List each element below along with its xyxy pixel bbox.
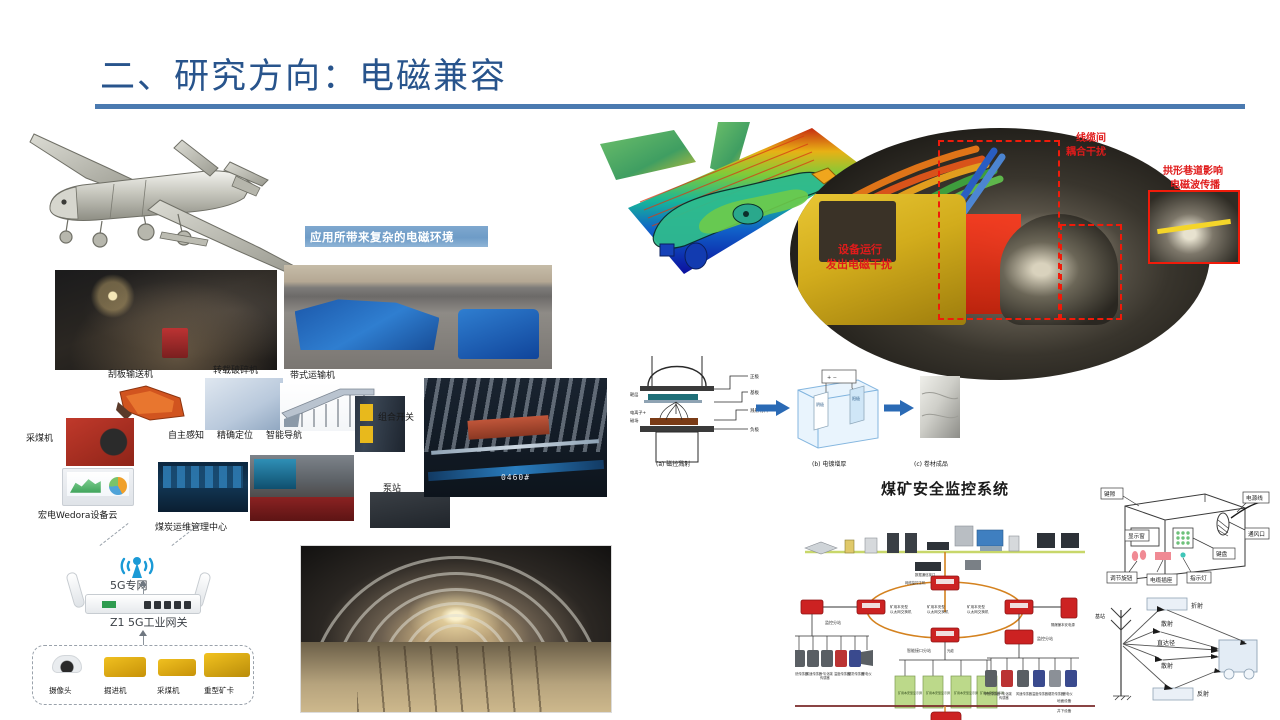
label-roadheader: 掘进机 <box>104 687 127 696</box>
svg-text:正极: 正极 <box>750 373 759 380</box>
svg-text:以太网交换机: 以太网交换机 <box>890 609 912 614</box>
annotation-equipment-line1: 设备运行 <box>838 244 882 257</box>
photo-mine-tunnel <box>300 545 612 713</box>
svg-text:调节旋钮: 调节旋钮 <box>1110 574 1133 582</box>
image-transfer-crusher <box>205 378 283 430</box>
label-scraper-conveyor: 刮板输送机 <box>108 370 153 380</box>
svg-text:矿用本安型: 矿用本安型 <box>967 604 985 609</box>
svg-text:电缆插座: 电缆插座 <box>1150 576 1173 584</box>
svg-text:矿用本安型显示屏: 矿用本安型显示屏 <box>926 690 950 695</box>
5g-industrial-gateway-device <box>85 594 201 614</box>
page-title: 二、研究方向：电磁兼容 <box>100 48 507 99</box>
svg-text:指示灯: 指示灯 <box>1190 574 1207 582</box>
image-3d-roadway-render: 0460# <box>424 378 607 497</box>
monitoring-system-title: 煤矿安全监控系统 <box>795 478 1095 499</box>
image-heavy-mine-truck <box>204 653 250 677</box>
image-shearer-device <box>158 659 196 676</box>
coal-mine-safety-monitoring-diagram: 煤矿安全监控系统 <box>795 478 1095 710</box>
svg-text:键盘: 键盘 <box>1216 550 1228 558</box>
image-roadheader-device <box>104 657 146 677</box>
svg-text:电源线: 电源线 <box>1246 494 1263 502</box>
image-camera-device <box>52 655 82 673</box>
svg-text:磁场: 磁场 <box>630 417 638 424</box>
svg-text:反射: 反射 <box>1197 690 1209 698</box>
svg-text:电离子+: 电离子+ <box>630 409 647 416</box>
svg-text:矿用本安型: 矿用本安型 <box>927 604 945 609</box>
arrow-up-to-gateway <box>139 630 147 636</box>
connector-dash-left <box>100 523 129 546</box>
image-combination-switch <box>355 396 405 452</box>
svg-text:+ −: + − <box>827 375 837 381</box>
fabrication-process-diagram: 正极 基板 溅射材料 负极 靶层 电离子+ 磁场 + − 阴极 阳 <box>630 342 960 470</box>
label-pump-station: 泵站 <box>383 484 401 494</box>
label-heavy-truck: 重型矿卡 <box>204 687 234 696</box>
annotation-box-tunnel-region <box>1060 224 1122 320</box>
wave-propagation-diagram: 折射 散射 直达径 散射 反射 基站 <box>1095 588 1270 708</box>
svg-text:阴极: 阴极 <box>816 401 824 407</box>
svg-text:网络监控主机: 网络监控主机 <box>905 580 926 585</box>
svg-text:温度传感器: 温度传感器 <box>1032 691 1049 696</box>
image-coal-shearer <box>66 418 134 466</box>
svg-text:风速传感器: 风速传感器 <box>1016 691 1033 696</box>
blue-caption-banner: 应用所带来复杂的电磁环境 <box>305 226 488 247</box>
label-z1-gateway: Z1 5G工业网关 <box>110 617 188 630</box>
svg-text:以太网交换机: 以太网交换机 <box>927 609 949 614</box>
image-pump-station <box>370 492 450 528</box>
wifi-signal-icon <box>117 552 157 580</box>
image-control-room <box>250 455 354 521</box>
svg-text:折射: 折射 <box>1191 602 1203 610</box>
annotation-cable-coupling-line1: 线缆间 <box>1076 133 1106 145</box>
svg-text:监控分站: 监控分站 <box>825 619 841 625</box>
label-ops-center: 煤炭运维管理中心 <box>155 523 227 533</box>
svg-text:键隙: 键隙 <box>1104 490 1116 498</box>
uav-cad-render <box>22 122 307 272</box>
svg-text:智能接口分站: 智能接口分站 <box>907 647 931 653</box>
label-camera: 摄像头 <box>49 687 72 696</box>
label-shearer-device: 采煤机 <box>157 687 180 696</box>
svg-text:以太网交换机: 以太网交换机 <box>967 609 989 614</box>
label-coal-shearer: 采煤机 <box>26 434 53 444</box>
inset-photo-arched-tunnel <box>1148 190 1240 264</box>
annotation-box-cable-coupling <box>938 140 1060 320</box>
svg-text:矿用本安型显示屏: 矿用本安型显示屏 <box>898 690 922 695</box>
svg-text:监控分站: 监控分站 <box>1037 635 1053 641</box>
svg-text:传感器: 传感器 <box>820 675 830 680</box>
svg-text:显示窗: 显示窗 <box>1128 532 1145 540</box>
svg-text:基板: 基板 <box>750 389 759 396</box>
label-wedora-cloud: 宏电Wedora设备云 <box>38 511 117 521</box>
svg-text:直达径: 直达径 <box>1157 639 1175 647</box>
svg-text:基站: 基站 <box>1095 613 1105 620</box>
svg-text:散射: 散射 <box>1161 620 1173 628</box>
svg-text:(c) 卷材成品: (c) 卷材成品 <box>914 460 948 468</box>
title-divider <box>95 104 1245 109</box>
image-wedora-cloud-monitor <box>62 468 134 506</box>
label-belt-conveyor: 带式运输机 <box>290 371 335 381</box>
svg-text:断电仪: 断电仪 <box>862 671 872 676</box>
tag-intelligent-navigation: 智能导航 <box>266 431 302 441</box>
svg-text:(a) 磁控溅射: (a) 磁控溅射 <box>656 460 690 468</box>
svg-text:断电仪: 断电仪 <box>1063 691 1073 696</box>
svg-text:(b) 电镀增厚: (b) 电镀增厚 <box>812 460 846 468</box>
annotation-arch-effect-line1: 拱形巷道影响 <box>1163 166 1223 178</box>
label-transfer-crusher: 转载破碎机 <box>213 366 258 376</box>
annotation-cable-coupling-line2: 耦合干扰 <box>1066 147 1106 159</box>
svg-text:散射: 散射 <box>1161 662 1173 670</box>
svg-text:阳极: 阳极 <box>852 395 860 401</box>
svg-text:井下设备: 井下设备 <box>1057 708 1072 713</box>
tag-autonomous-perception: 自主感知 <box>168 431 204 441</box>
svg-text:靶层: 靶层 <box>630 391 638 398</box>
image-ops-center <box>158 462 248 512</box>
svg-text:隔爆兼本安电源: 隔爆兼本安电源 <box>1051 622 1075 627</box>
arrow-up-to-network <box>139 580 147 586</box>
svg-text:负极: 负极 <box>750 426 759 433</box>
slide-root: 二、研究方向：电磁兼容 <box>0 0 1280 720</box>
label-combination-switch: 组合开关 <box>378 413 414 423</box>
svg-text:数据通信接口: 数据通信接口 <box>915 572 935 577</box>
svg-text:地面设备: 地面设备 <box>1057 698 1072 703</box>
photo-underground-mine <box>55 270 277 370</box>
svg-text:矿用本安型显示屏: 矿用本安型显示屏 <box>954 690 978 695</box>
router-antenna-left <box>65 571 85 609</box>
equipment-enclosure-diagram: 键隙 电源线 显示窗 通风口 键盘 调节旋钮 电缆插座 指示灯 <box>1095 472 1270 590</box>
tag-precise-positioning: 精确定位 <box>217 431 253 441</box>
annotation-equipment-line2: 发出电磁干扰 <box>826 259 892 272</box>
svg-text:矿用本安型: 矿用本安型 <box>890 604 908 609</box>
svg-text:光缆: 光缆 <box>947 648 954 653</box>
svg-text:传感器: 传感器 <box>999 695 1009 700</box>
photo-blue-mining-machine <box>284 265 552 369</box>
svg-text:通风口: 通风口 <box>1248 530 1265 538</box>
render-code-label: 0460# <box>501 473 530 482</box>
